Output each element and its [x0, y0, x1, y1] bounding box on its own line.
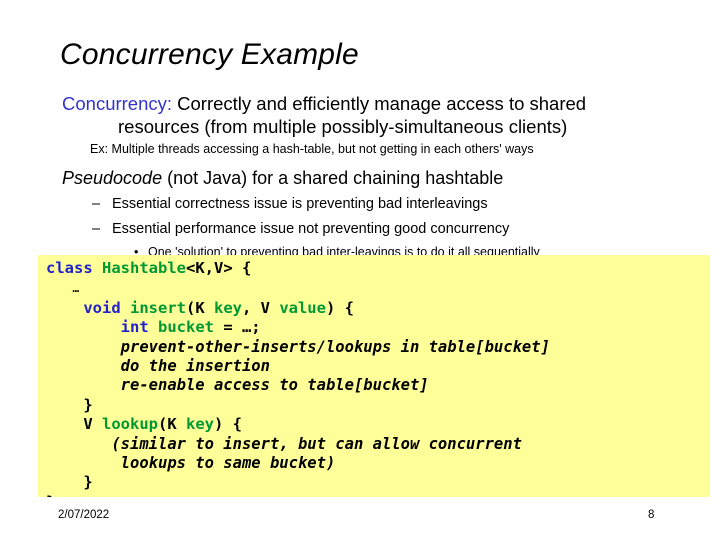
bullet-sub-correctness: – Essential correctness issue is prevent…	[92, 194, 682, 215]
code-kw-class: class	[46, 259, 93, 277]
code-generics: <K,V> {	[186, 259, 251, 277]
dash-bullet-icon: –	[92, 194, 112, 215]
code-brace-close-lookup: }	[46, 473, 93, 491]
code-class-name: Hashtable	[93, 259, 186, 277]
dash-bullet-icon: –	[92, 219, 112, 240]
code-param-sep: , V	[242, 299, 279, 317]
pseudocode-label: Pseudocode	[62, 168, 162, 188]
concurrency-text-line1: Correctly and efficiently manage access …	[172, 93, 586, 114]
code-var-bucket: bucket	[149, 318, 214, 336]
code-pseudo-similar: (similar to insert, but can allow concur…	[46, 435, 522, 453]
pseudocode-text: (not Java) for a shared chaining hashtab…	[162, 168, 503, 188]
code-param-key: key	[214, 299, 242, 317]
bullet-concurrency: Concurrency: Correctly and efficiently m…	[62, 92, 682, 138]
code-kw-int: int	[46, 318, 149, 336]
code-brace-close-class: }	[46, 493, 55, 497]
code-pseudo-lookups: lookups to same bucket)	[46, 454, 335, 472]
page-title: Concurrency Example	[60, 38, 359, 72]
sub-correctness-text: Essential correctness issue is preventin…	[112, 194, 488, 215]
bullet-example: Ex: Multiple threads accessing a hash-ta…	[90, 141, 682, 158]
footer-page-number: 8	[648, 509, 654, 521]
footer-date: 2/07/2022	[58, 509, 109, 521]
code-brace-close-insert: }	[46, 396, 93, 414]
concurrency-text-line2: resources (from multiple possibly-simult…	[62, 115, 682, 138]
code-param-value: value	[279, 299, 326, 317]
concurrency-label: Concurrency:	[62, 93, 172, 114]
code-brace-open: ) {	[326, 299, 354, 317]
bullet-pseudocode: Pseudocode (not Java) for a shared chain…	[62, 166, 682, 190]
code-kw-void: void	[46, 299, 121, 317]
code-method-insert: insert	[121, 299, 186, 317]
code-lines: class Hashtable<K,V> { … void insert(K k…	[46, 259, 704, 497]
code-block: class Hashtable<K,V> { … void insert(K k…	[38, 255, 710, 497]
code-pseudo-insert: do the insertion	[46, 357, 270, 375]
sub-performance-text: Essential performance issue not preventi…	[112, 219, 509, 240]
code-method-lookup: lookup	[102, 415, 158, 433]
bullet-list: Concurrency: Correctly and efficiently m…	[62, 92, 682, 261]
code-assign-bucket: = …;	[214, 318, 261, 336]
bullet-sub-performance: – Essential performance issue not preven…	[92, 219, 682, 240]
code-lookup-paren: (K	[158, 415, 186, 433]
code-pseudo-reenable: re-enable access to table[bucket]	[46, 376, 429, 394]
code-pseudo-prevent: prevent-other-inserts/lookups in table[b…	[46, 338, 550, 356]
code-paren-open: (K	[186, 299, 214, 317]
code-lookup-brace: ) {	[214, 415, 242, 433]
code-return-type-v: V	[46, 415, 102, 433]
code-lookup-param-key: key	[186, 415, 214, 433]
code-ellipsis: …	[46, 282, 79, 295]
